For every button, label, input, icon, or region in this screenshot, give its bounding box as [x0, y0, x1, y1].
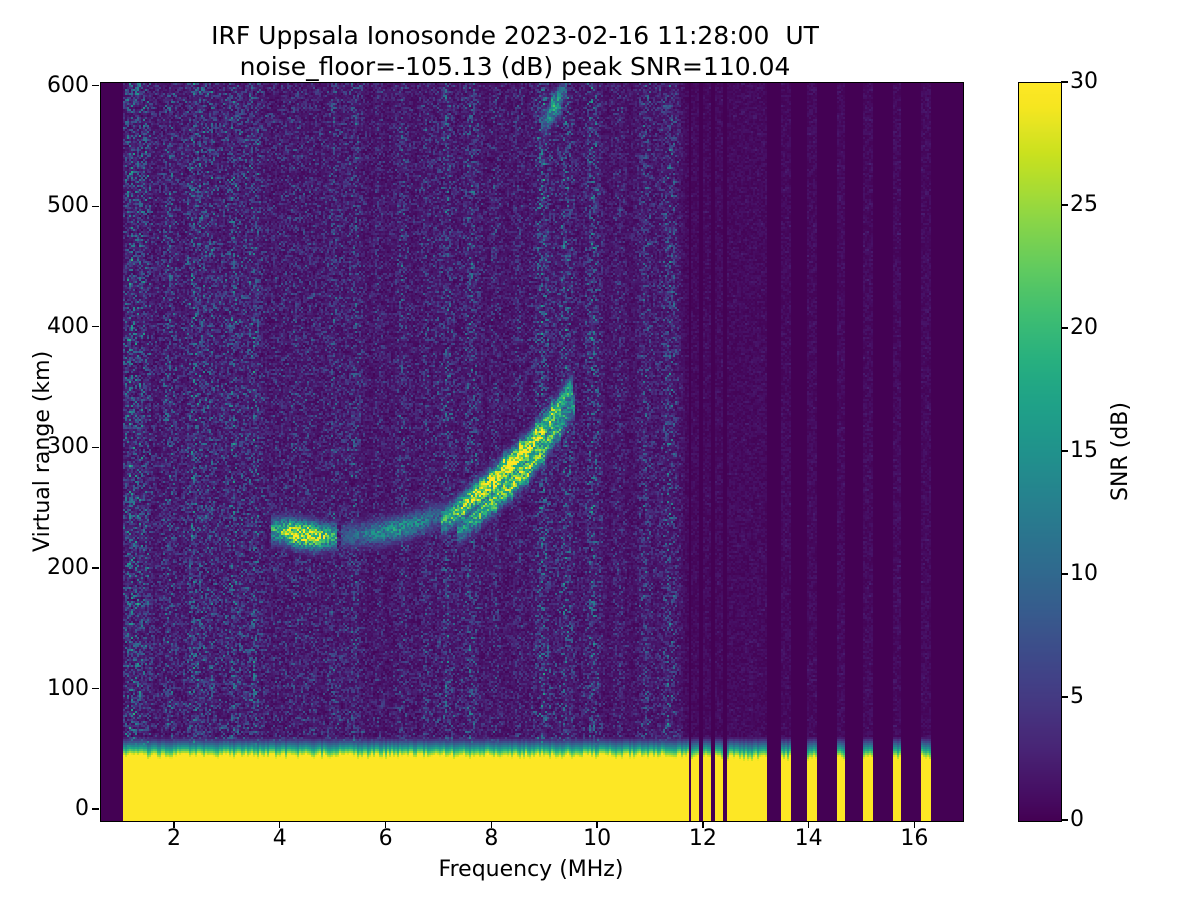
x-tick-mark	[596, 821, 597, 828]
colorbar-gradient	[1019, 83, 1061, 821]
plot-area[interactable]	[100, 82, 964, 822]
colorbar-tick-mark	[1061, 450, 1068, 451]
y-tick-mark	[92, 688, 99, 689]
colorbar-tick-label: 25	[1070, 194, 1098, 216]
colorbar[interactable]	[1018, 82, 1062, 822]
x-tick-mark	[702, 821, 703, 828]
ionogram-figure: IRF Uppsala Ionosonde 2023-02-16 11:28:0…	[0, 0, 1200, 900]
y-tick-label: 300	[0, 436, 89, 458]
y-tick-mark	[92, 447, 99, 448]
y-tick-mark	[92, 808, 99, 809]
colorbar-tick-label: 10	[1070, 563, 1098, 585]
colorbar-tick-label: 30	[1070, 71, 1098, 93]
ionogram-heatmap[interactable]	[101, 83, 963, 821]
colorbar-tick-mark	[1061, 696, 1068, 697]
colorbar-tick-mark	[1061, 819, 1068, 820]
colorbar-tick-mark	[1061, 81, 1068, 82]
y-tick-label: 600	[0, 75, 89, 97]
y-tick-label: 200	[0, 557, 89, 579]
x-tick-label: 2	[134, 828, 214, 850]
x-tick-label: 4	[240, 828, 320, 850]
x-tick-label: 16	[874, 828, 954, 850]
y-tick-label: 0	[0, 798, 89, 820]
x-tick-label: 6	[346, 828, 426, 850]
colorbar-tick-label: 15	[1070, 440, 1098, 462]
y-tick-mark	[92, 326, 99, 327]
colorbar-label: SNR (dB)	[1108, 402, 1133, 501]
x-tick-mark	[914, 821, 915, 828]
title-line-noise-snr: noise_floor=-105.13 (dB) peak SNR=110.04	[0, 51, 1030, 82]
colorbar-tick-label: 20	[1070, 317, 1098, 339]
y-tick-label: 400	[0, 316, 89, 338]
x-tick-mark	[491, 821, 492, 828]
colorbar-tick-label: 0	[1070, 809, 1084, 831]
colorbar-tick-mark	[1061, 327, 1068, 328]
y-tick-mark	[92, 85, 99, 86]
x-tick-mark	[385, 821, 386, 828]
figure-title: IRF Uppsala Ionosonde 2023-02-16 11:28:0…	[0, 20, 1030, 82]
x-tick-label: 12	[663, 828, 743, 850]
y-tick-mark	[92, 567, 99, 568]
x-tick-label: 10	[557, 828, 637, 850]
y-tick-label: 100	[0, 678, 89, 700]
x-tick-label: 14	[769, 828, 849, 850]
x-tick-mark	[173, 821, 174, 828]
x-tick-label: 8	[451, 828, 531, 850]
x-tick-mark	[279, 821, 280, 828]
x-axis-label: Frequency (MHz)	[100, 857, 962, 882]
y-tick-label: 500	[0, 195, 89, 217]
y-tick-mark	[92, 206, 99, 207]
x-tick-mark	[808, 821, 809, 828]
title-line-station-datetime: IRF Uppsala Ionosonde 2023-02-16 11:28:0…	[0, 20, 1030, 51]
colorbar-tick-mark	[1061, 573, 1068, 574]
colorbar-tick-label: 5	[1070, 686, 1084, 708]
colorbar-tick-mark	[1061, 204, 1068, 205]
